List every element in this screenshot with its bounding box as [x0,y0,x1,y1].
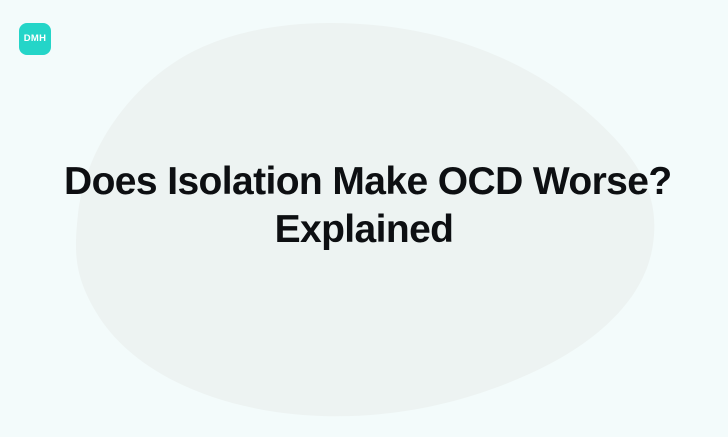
title-card: DMH Does Isolation Make OCD Worse? Expla… [0,0,728,437]
page-title: Does Isolation Make OCD Worse? Explained [64,158,664,279]
headline-block: Does Isolation Make OCD Worse? Explained [0,0,728,437]
page-title-line-1: Does Isolation Make OCD Worse? [64,158,664,206]
page-title-line-2: Explained [64,206,664,254]
